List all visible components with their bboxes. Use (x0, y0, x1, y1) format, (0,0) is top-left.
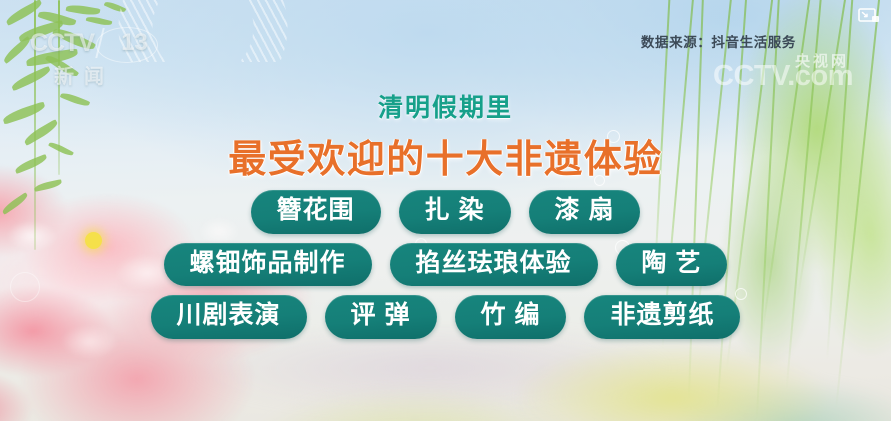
page-subtitle: 清明假期里 (0, 88, 891, 124)
logo-ellipse (96, 27, 158, 63)
tag-row: 簪花围扎 染漆 扇 (0, 190, 891, 234)
experience-tag-list: 簪花围扎 染漆 扇螺钿饰品制作掐丝珐琅体验陶 艺川剧表演评 弹竹 编非遗剪纸 (0, 190, 891, 348)
experience-tag[interactable]: 漆 扇 (529, 190, 641, 234)
experience-tag[interactable]: 非遗剪纸 (584, 295, 740, 339)
experience-tag[interactable]: 川剧表演 (151, 295, 307, 339)
experience-tag[interactable]: 掐丝珐琅体验 (390, 243, 598, 287)
tag-row: 螺钿饰品制作掐丝珐琅体验陶 艺 (0, 243, 891, 287)
cctv-wordmark: CCTV (30, 29, 94, 58)
experience-tag[interactable]: 扎 染 (399, 190, 511, 234)
experience-tag[interactable]: 评 弹 (325, 295, 437, 339)
page-title: 最受欢迎的十大非遗体验 (0, 128, 891, 183)
experience-tag[interactable]: 陶 艺 (616, 243, 728, 287)
cctv-13-news-logo: CCTV 13 新闻 (30, 28, 160, 86)
tag-row: 川剧表演评 弹竹 编非遗剪纸 (0, 295, 891, 339)
experience-tag[interactable]: 竹 编 (455, 295, 567, 339)
experience-tag[interactable]: 螺钿饰品制作 (164, 243, 372, 287)
screen-share-icon[interactable] (858, 8, 880, 26)
channel-name-cn: 新闻 (30, 60, 160, 89)
experience-tag[interactable]: 簪花围 (251, 190, 381, 234)
broadcast-graphic-screen: CCTV 13 新闻 数据来源：抖音生活服务 央视网 CCTV.com 清明假期… (0, 0, 891, 421)
